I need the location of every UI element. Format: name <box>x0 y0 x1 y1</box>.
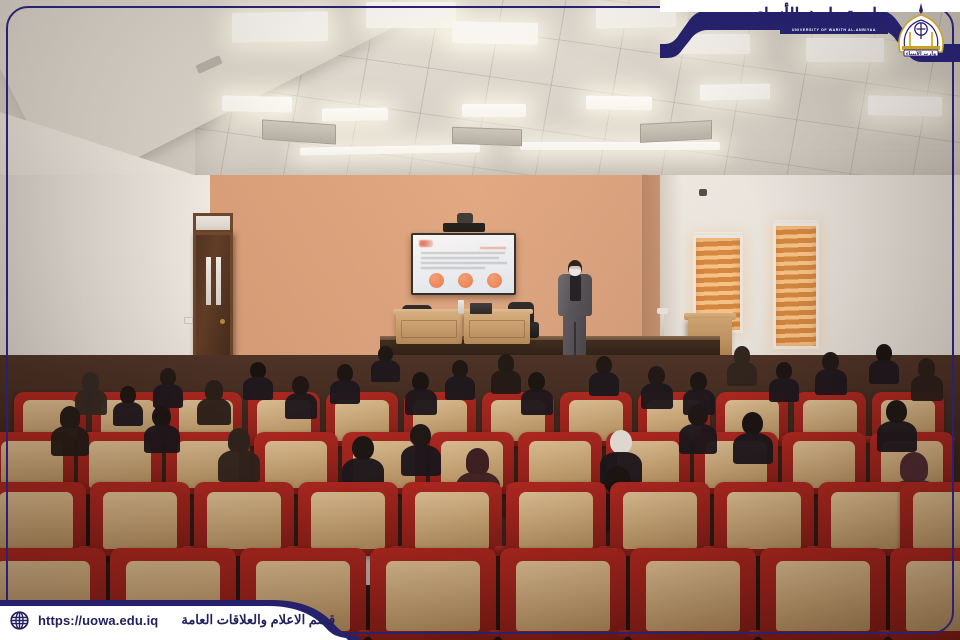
door-transom <box>193 213 233 233</box>
screenshot-root: جامعة وارث الأنبياء UNIVERSITY OF WARITH… <box>0 0 960 640</box>
svg-text:وارث الأنبياء: وارث الأنبياء <box>906 50 936 57</box>
seat-backrest <box>516 561 609 631</box>
footer-content: https://uowa.edu.iq قسم الاعلام والعلاقا… <box>0 600 340 640</box>
seat-backrest <box>906 561 960 631</box>
ceiling-light-panel <box>700 83 770 100</box>
auditorium-seat <box>402 482 502 556</box>
audience-head <box>352 436 374 460</box>
audience-shoulders <box>197 398 231 425</box>
audience-shoulders <box>733 433 773 464</box>
audience-shoulders <box>113 402 143 426</box>
door-knob <box>220 319 225 324</box>
door-glass-right <box>216 257 221 305</box>
auditorium-seat <box>900 482 960 556</box>
university-crest-icon: وارث الأنبياء <box>894 2 948 58</box>
ceiling-light-panel <box>222 95 292 112</box>
audience-shoulders <box>218 450 260 482</box>
audience-shoulders <box>911 375 943 401</box>
audience-head <box>466 448 489 474</box>
audience-head <box>900 452 928 482</box>
presenter-shirt <box>570 275 581 301</box>
audience-shoulders <box>491 370 521 394</box>
front-desk-right <box>464 312 530 344</box>
window-with-blinds <box>776 226 816 346</box>
seat-backrest <box>727 492 801 548</box>
slide-logo <box>419 240 433 247</box>
ac-diffuser-right <box>640 120 712 143</box>
projection-screen <box>411 233 516 295</box>
event-photograph <box>0 0 960 640</box>
audience-head <box>228 428 250 452</box>
seat-backrest <box>623 492 697 548</box>
auditorium-seat <box>194 482 294 556</box>
seat-backrest <box>646 561 739 631</box>
light-switch <box>184 317 193 324</box>
auditorium-seat <box>0 482 86 556</box>
audience-shoulders <box>153 384 183 408</box>
wordmark-arabic-text: جامعة وارث الأنبياء <box>780 5 888 25</box>
auditorium-seat <box>714 482 814 556</box>
seat-backrest <box>519 492 593 548</box>
audience-shoulders <box>75 389 107 415</box>
audience-head <box>610 430 632 454</box>
audience-shoulders <box>144 425 180 453</box>
door-glass-left <box>206 257 211 305</box>
presentation-slide <box>413 235 514 293</box>
globe-icon <box>10 611 29 630</box>
audience-head <box>60 406 80 428</box>
audience-head <box>688 404 708 426</box>
website-url[interactable]: https://uowa.edu.iq <box>38 613 158 628</box>
ceiling-light-panel <box>322 107 388 121</box>
ceiling-light-panel <box>868 95 942 116</box>
auditorium-seat <box>506 482 606 556</box>
seat-backrest <box>89 441 151 488</box>
seat-backrest <box>386 561 479 631</box>
audience-shoulders <box>641 383 673 409</box>
audience-head <box>410 424 431 447</box>
audience-head <box>152 406 171 427</box>
audience-shoulders <box>405 389 437 415</box>
auditorium-seat <box>630 548 756 640</box>
audience-head <box>886 400 907 423</box>
audience-shoulders <box>521 389 553 415</box>
audience-shoulders <box>589 372 619 396</box>
seat-backrest <box>831 492 905 548</box>
window-header <box>693 232 743 238</box>
seat-backrest <box>913 492 960 548</box>
audience-head <box>205 380 223 400</box>
audience-shoulders <box>815 369 847 395</box>
audience-shoulders <box>243 377 273 400</box>
laptop <box>470 303 492 314</box>
slide-icon-3 <box>487 273 502 288</box>
auditorium-seat <box>610 482 710 556</box>
screen-soundbar <box>443 223 485 232</box>
wall-sensor <box>699 189 707 196</box>
university-wordmark: جامعة وارث الأنبياء UNIVERSITY OF WARITH… <box>780 5 888 39</box>
ceiling-light-panel <box>366 2 456 28</box>
seat-backrest <box>529 441 591 488</box>
audience-shoulders <box>877 421 917 452</box>
seat-backrest <box>311 492 385 548</box>
front-desk-left <box>396 312 462 344</box>
auditorium-seat <box>298 482 398 556</box>
audience-shoulders <box>371 360 400 382</box>
audience-shoulders <box>679 424 717 454</box>
audience-shoulders <box>401 445 441 476</box>
ceiling-light-panel <box>586 95 652 110</box>
ceiling-light-panel <box>452 21 538 45</box>
seat-backrest <box>415 492 489 548</box>
audience-shoulders <box>727 362 757 386</box>
ac-diffuser-center <box>452 127 522 146</box>
ceiling-light-panel <box>520 142 720 150</box>
auditorium-seat <box>760 548 886 640</box>
seat-backrest <box>776 561 869 631</box>
auditorium-seat <box>890 548 960 640</box>
audience-shoulders <box>285 393 317 419</box>
seat-backrest <box>103 492 177 548</box>
audience-shoulders <box>769 378 799 402</box>
audience-shoulders <box>51 426 89 456</box>
slide-accent-rule <box>480 247 506 249</box>
ceiling-light-panel <box>462 104 526 117</box>
mic-head <box>657 308 668 314</box>
audience-shoulders <box>330 380 360 404</box>
window-frame <box>773 223 819 349</box>
seat-backrest <box>207 492 281 548</box>
audience-head <box>742 412 763 435</box>
audience-shoulders <box>869 360 899 384</box>
seat-backrest <box>265 441 327 488</box>
ceiling-light-panel <box>232 11 328 43</box>
auditorium-seat <box>90 482 190 556</box>
entrance-door <box>193 232 233 362</box>
wordmark-english-text: UNIVERSITY OF WARITH AL-ANBIYAA <box>780 26 888 34</box>
seat-backrest <box>793 441 855 488</box>
seat-backrest <box>0 492 73 548</box>
department-label: قسم الاعلام والعلاقات العامة <box>181 612 335 628</box>
auditorium-seat <box>370 548 496 640</box>
slide-icon-2 <box>458 273 473 288</box>
window-header <box>773 220 819 226</box>
audience-shoulders <box>445 376 475 400</box>
slide-icon-1 <box>429 273 444 288</box>
hand-sanitizer-bottle <box>458 300 464 314</box>
auditorium-seat <box>500 548 626 640</box>
